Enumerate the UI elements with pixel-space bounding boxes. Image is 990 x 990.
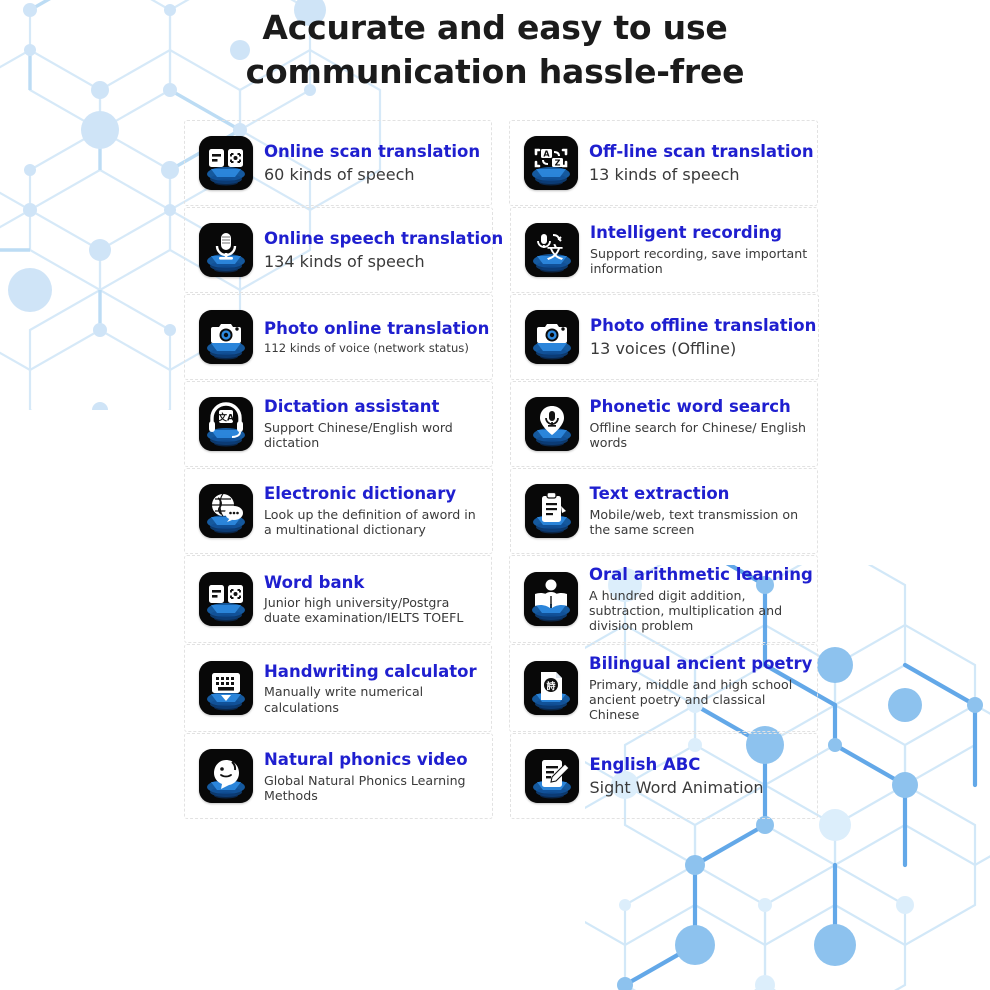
feature-card[interactable]: Online scan translation60 kinds of speec…	[184, 120, 492, 206]
person-reading-icon	[524, 572, 578, 626]
feature-card-title: Handwriting calculator	[264, 662, 485, 682]
feature-row: 文ADictation assistantSupport Chinese/Eng…	[184, 381, 818, 467]
clipboard-extract-icon	[525, 484, 579, 538]
feature-card-title: Intelligent recording	[590, 223, 811, 243]
feature-card-title: Electronic dictionary	[264, 484, 486, 504]
feature-card[interactable]: Word bankJunior high university/Postgra …	[184, 555, 492, 643]
feature-card[interactable]: 詩Bilingual ancient poetryPrimary, middle…	[509, 644, 818, 732]
feature-card-description: Global Natural Phonics Learning Methods	[264, 773, 486, 803]
feature-card-text: English ABCSight Word Animation	[590, 755, 812, 797]
feature-card-text: Off-line scan translation13 kinds of spe…	[589, 142, 811, 184]
keypad-icon	[199, 661, 253, 715]
feature-card-description: 134 kinds of speech	[264, 252, 486, 272]
feature-card-text: Oral arithmetic learningA hundred digit …	[589, 565, 811, 633]
feature-card-text: Photo online translation112 kinds of voi…	[264, 319, 486, 355]
feature-card-description: Mobile/web, text transmission on the sam…	[590, 507, 812, 537]
feature-card[interactable]: Natural phonics videoGlobal Natural Phon…	[184, 733, 493, 819]
feature-card-title: Off-line scan translation	[589, 142, 811, 162]
feature-card-text: Intelligent recordingSupport recording, …	[590, 223, 811, 276]
feature-card-description: 112 kinds of voice (network status)	[264, 342, 486, 356]
feature-card-description: Support recording, save important inform…	[590, 246, 811, 276]
scan-book-icon	[199, 136, 253, 190]
feature-card-title: Online speech translation	[264, 229, 486, 249]
feature-card-title: Dictation assistant	[264, 397, 486, 417]
feature-overview-page: Accurate and easy to use communication h…	[0, 0, 990, 990]
poetry-scroll-icon: 詩	[524, 661, 578, 715]
feature-card-title: Photo online translation	[264, 319, 486, 339]
feature-card-title: Oral arithmetic learning	[589, 565, 811, 585]
feature-card-title: Phonetic word search	[590, 397, 812, 417]
feature-card[interactable]: Electronic dictionaryLook up the definit…	[184, 468, 493, 554]
feature-card-description: Look up the definition of aword in a mul…	[264, 507, 486, 537]
feature-card-text: Electronic dictionaryLook up the definit…	[264, 484, 486, 537]
feature-card[interactable]: 文ADictation assistantSupport Chinese/Eng…	[184, 381, 493, 467]
feature-row: Handwriting calculatorManually write num…	[184, 644, 818, 732]
feature-card[interactable]: AZOff-line scan translation13 kinds of s…	[509, 120, 818, 206]
phonics-face-icon	[199, 749, 253, 803]
phonetic-mic-icon	[525, 397, 579, 451]
feature-card-text: Text extractionMobile/web, text transmis…	[590, 484, 812, 537]
svg-text:Z: Z	[555, 159, 561, 168]
feature-card[interactable]: Text extractionMobile/web, text transmis…	[510, 468, 819, 554]
microphone-icon	[199, 223, 253, 277]
feature-row: Online scan translation60 kinds of speec…	[184, 120, 818, 206]
feature-card-description: A hundred digit addition, subtraction, m…	[589, 588, 811, 633]
page-title-line-2: communication hassle-free	[120, 50, 870, 94]
svg-text:詩: 詩	[546, 680, 555, 692]
feature-card-title: Bilingual ancient poetry	[589, 654, 811, 674]
feature-card-title: Word bank	[264, 573, 485, 593]
svg-text:A: A	[543, 150, 550, 159]
feature-card-description: Offline search for Chinese/ English word…	[590, 420, 812, 450]
feature-card-description: Sight Word Animation	[590, 778, 812, 798]
feature-row: Photo online translation112 kinds of voi…	[184, 294, 818, 380]
feature-card[interactable]: Oral arithmetic learningA hundred digit …	[509, 555, 818, 643]
feature-row: Electronic dictionaryLook up the definit…	[184, 468, 818, 554]
feature-card-text: Online scan translation60 kinds of speec…	[264, 142, 485, 184]
feature-card-description: 13 kinds of speech	[589, 165, 811, 185]
feature-row: Natural phonics videoGlobal Natural Phon…	[184, 733, 818, 819]
document-pen-icon	[525, 749, 579, 803]
feature-card-text: Phonetic word searchOffline search for C…	[590, 397, 812, 450]
feature-card-text: Dictation assistantSupport Chinese/Engli…	[264, 397, 486, 450]
feature-card-description: Support Chinese/English word dictation	[264, 420, 486, 450]
camera-icon	[199, 310, 253, 364]
feature-card[interactable]: English ABCSight Word Animation	[510, 733, 819, 819]
feature-card[interactable]: Handwriting calculatorManually write num…	[184, 644, 492, 732]
feature-card-text: Word bankJunior high university/Postgra …	[264, 573, 485, 626]
feature-card[interactable]: Photo offline translation13 voices (Offl…	[510, 294, 819, 380]
feature-card[interactable]: Photo online translation112 kinds of voi…	[184, 294, 493, 380]
headset-dictation-icon: 文A	[199, 397, 253, 451]
feature-card[interactable]: Online speech translation134 kinds of sp…	[184, 207, 493, 293]
feature-card-description: Primary, middle and high school ancient …	[589, 677, 811, 722]
recording-translate-icon: 文	[525, 223, 579, 277]
feature-card-description: Junior high university/Postgra duate exa…	[264, 595, 485, 625]
feature-card-description: 13 voices (Offline)	[590, 339, 812, 359]
page-title-line-1: Accurate and easy to use	[120, 6, 870, 50]
feature-card-title: Photo offline translation	[590, 316, 812, 336]
scan-frame-az-icon: AZ	[524, 136, 578, 190]
camera-icon	[525, 310, 579, 364]
feature-card-title: English ABC	[590, 755, 812, 775]
feature-card[interactable]: Phonetic word searchOffline search for C…	[510, 381, 819, 467]
feature-row: Word bankJunior high university/Postgra …	[184, 555, 818, 643]
feature-card-text: Handwriting calculatorManually write num…	[264, 662, 485, 715]
page-title: Accurate and easy to use communication h…	[0, 6, 990, 93]
svg-text:文: 文	[547, 243, 564, 262]
feature-row: Online speech translation134 kinds of sp…	[184, 207, 818, 293]
feature-card-title: Online scan translation	[264, 142, 485, 162]
feature-card-description: Manually write numerical calculations	[264, 684, 485, 714]
feature-card-text: Natural phonics videoGlobal Natural Phon…	[264, 750, 486, 803]
svg-text:文A: 文A	[217, 412, 234, 424]
feature-card-description: 60 kinds of speech	[264, 165, 485, 185]
feature-card-text: Bilingual ancient poetryPrimary, middle …	[589, 654, 811, 722]
scan-book-icon	[199, 572, 253, 626]
feature-card-text: Photo offline translation13 voices (Offl…	[590, 316, 812, 358]
feature-card-text: Online speech translation134 kinds of sp…	[264, 229, 486, 271]
feature-card-title: Text extraction	[590, 484, 812, 504]
feature-card-title: Natural phonics video	[264, 750, 486, 770]
globe-chat-icon	[199, 484, 253, 538]
feature-grid: Online scan translation60 kinds of speec…	[184, 120, 818, 820]
feature-card[interactable]: 文Intelligent recordingSupport recording,…	[510, 207, 818, 293]
